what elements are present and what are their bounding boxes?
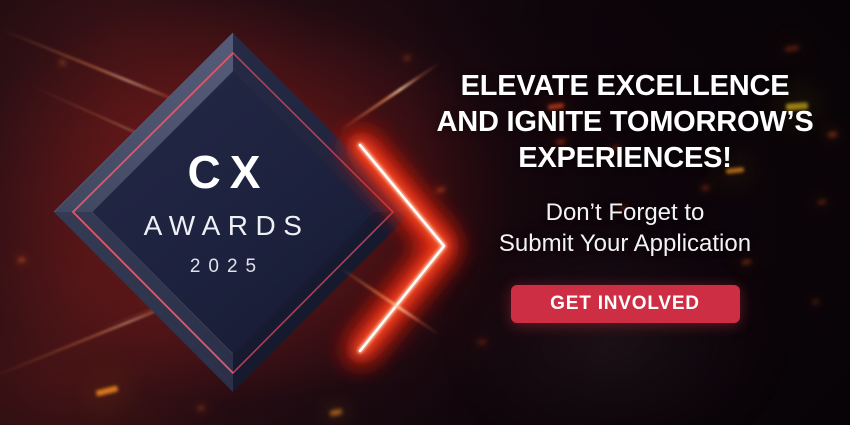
cta-container: GET INVOLVED (511, 285, 740, 323)
content-block: ELEVATE EXCELLENCE AND IGNITE TOMORROW’S… (400, 0, 850, 425)
logo-text-block: CX AWARDS 2025 (54, 33, 412, 392)
logo-title: CX (186, 149, 270, 195)
cx-awards-logo: CX AWARDS 2025 (54, 33, 412, 392)
subheading-line-1: Don’t Forget to (410, 197, 840, 228)
logo-year: 2025 (190, 257, 264, 276)
headline-line-2: AND IGNITE TOMORROW’S (410, 104, 840, 140)
subheading-line-2: Submit Your Application (410, 228, 840, 259)
headline-line-1: ELEVATE EXCELLENCE (410, 68, 840, 104)
logo-subtitle: AWARDS (144, 212, 310, 240)
cx-awards-banner: CX AWARDS 2025 ELEVATE EXCELLENCE AND IG… (0, 0, 850, 425)
subheading: Don’t Forget to Submit Your Application (410, 197, 840, 259)
headline: ELEVATE EXCELLENCE AND IGNITE TOMORROW’S… (410, 68, 840, 176)
headline-line-3: EXPERIENCES! (410, 140, 840, 176)
get-involved-button[interactable]: GET INVOLVED (511, 285, 740, 323)
